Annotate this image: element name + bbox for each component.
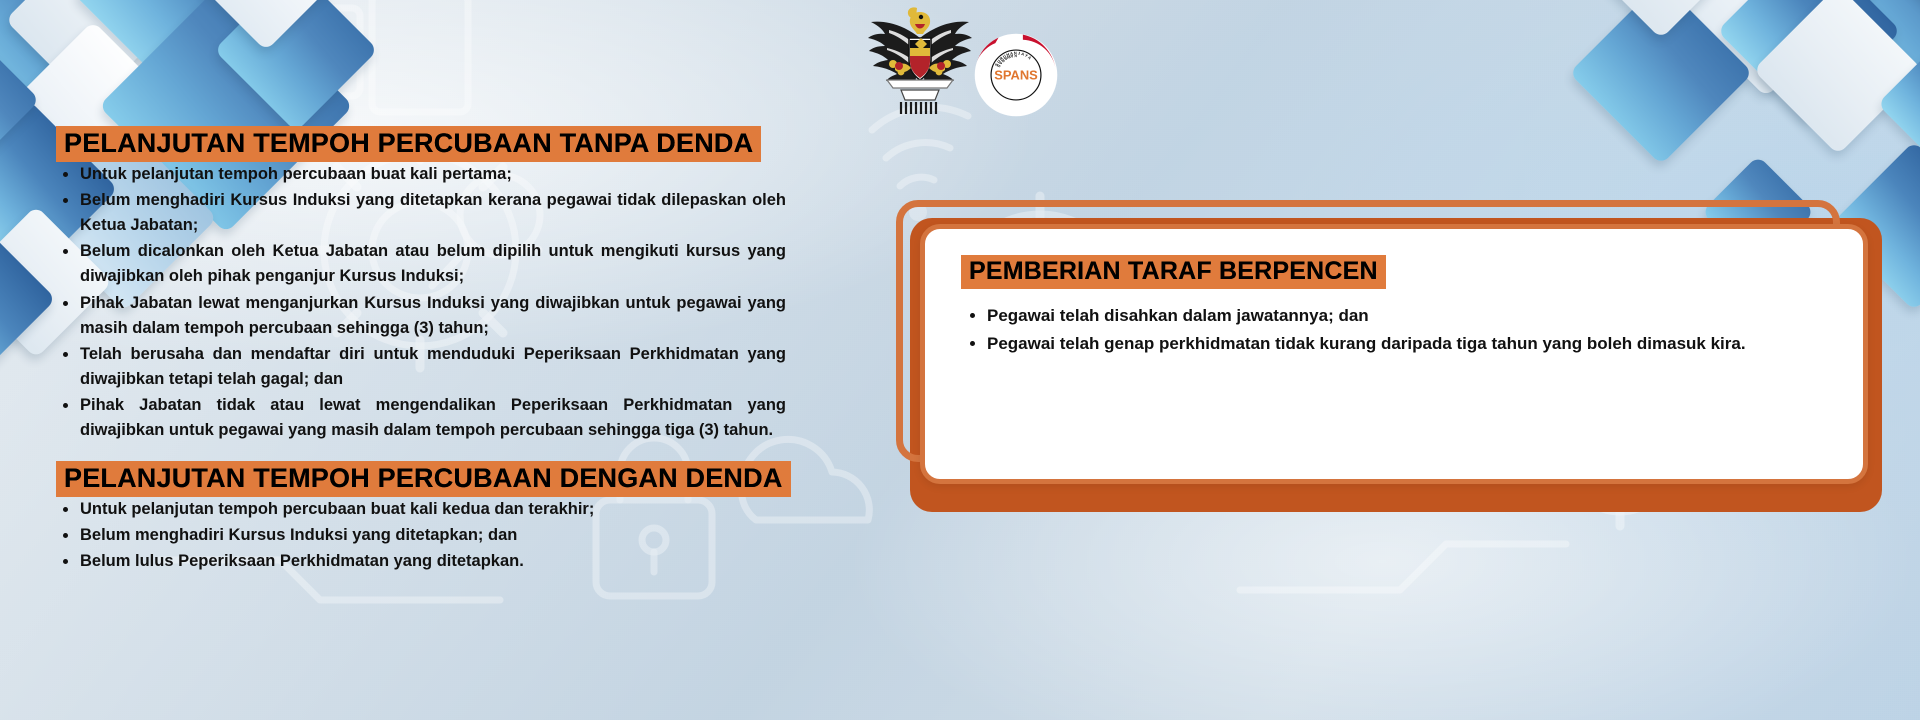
list-item: Belum menghadiri Kursus Induksi yang dit… (56, 188, 786, 238)
panel-white-card: PEMBERIAN TARAF BERPENCEN Pegawai telah … (920, 224, 1868, 484)
list-item: Untuk pelanjutan tempoh percubaan buat k… (56, 497, 786, 522)
logo-group: SPANS S U R U H A N J A Y A S A (845, 4, 1080, 116)
spans-wordmark: SPANS (994, 67, 1038, 82)
heading-text: PELANJUTAN TEMPOH PERCUBAAN DENGAN DENDA (56, 461, 791, 497)
list-item: Pihak Jabatan tidak atau lewat mengendal… (56, 393, 786, 443)
list-item: Telah berusaha dan mendaftar diri untuk … (56, 342, 786, 392)
poster-canvas: SPANS S U R U H A N J A Y A S A (0, 0, 1920, 720)
left-content-column: PELANJUTAN TEMPOH PERCUBAAN TANPA DENDA … (56, 126, 786, 575)
list-item: Pegawai telah genap perkhidmatan tidak k… (961, 331, 1833, 357)
bullet-list-dengan-denda: Untuk pelanjutan tempoh percubaan buat k… (56, 497, 786, 574)
list-item: Belum menghadiri Kursus Induksi yang dit… (56, 523, 786, 548)
list-item: Pihak Jabatan lewat menganjurkan Kursus … (56, 291, 786, 341)
pemberian-taraf-berpencen-panel: PEMBERIAN TARAF BERPENCEN Pegawai telah … (896, 200, 1882, 512)
panel-bullet-list: Pegawai telah disahkan dalam jawatannya;… (961, 303, 1833, 358)
svg-text:K: K (1014, 53, 1017, 58)
section-heading-tanpa-denda: PELANJUTAN TEMPOH PERCUBAAN TANPA DENDA (56, 126, 786, 162)
list-item: Untuk pelanjutan tempoh percubaan buat k… (56, 162, 786, 187)
list-item: Belum dicalonkan oleh Ketua Jabatan atau… (56, 239, 786, 289)
list-item: Pegawai telah disahkan dalam jawatannya;… (961, 303, 1833, 329)
bullet-list-tanpa-denda: Untuk pelanjutan tempoh percubaan buat k… (56, 162, 786, 443)
list-item: Belum lulus Peperiksaan Perkhidmatan yan… (56, 549, 786, 574)
panel-heading: PEMBERIAN TARAF BERPENCEN (961, 255, 1833, 289)
heading-text: PEMBERIAN TARAF BERPENCEN (961, 255, 1386, 289)
spans-logo-icon: SPANS S U R U H A N J A Y A S A (973, 32, 1059, 118)
heading-text: PELANJUTAN TEMPOH PERCUBAAN TANPA DENDA (56, 126, 761, 162)
sarawak-coat-of-arms-icon (865, 4, 975, 116)
section-heading-dengan-denda: PELANJUTAN TEMPOH PERCUBAAN DENGAN DENDA (56, 461, 786, 497)
